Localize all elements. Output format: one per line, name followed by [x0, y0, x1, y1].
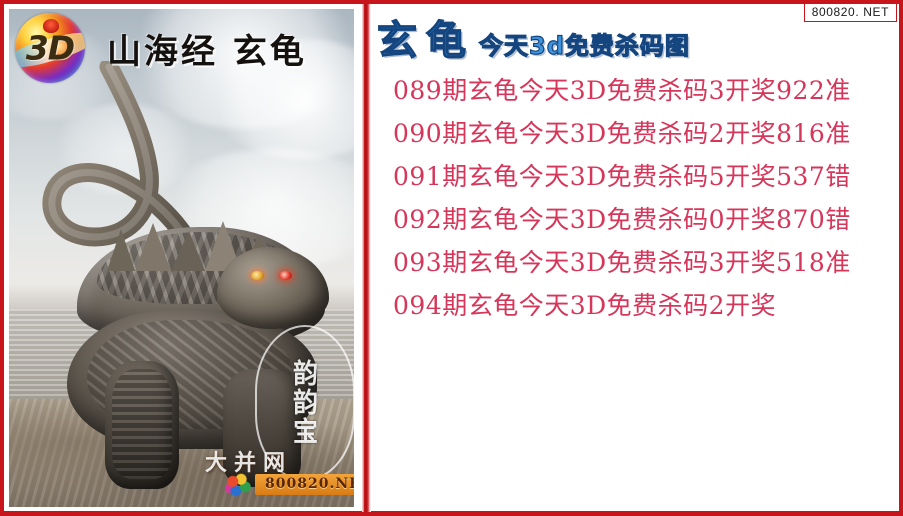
list-item: 093期玄龟今天3D免费杀码3开奖518准 [371, 241, 898, 284]
prediction-text: 089期玄龟今天3D免费杀码3开奖922准 [393, 78, 851, 103]
list-item: 092期玄龟今天3D免费杀码0开奖870错 [371, 198, 898, 241]
creature-eye-right [279, 271, 292, 280]
prediction-list: 089期玄龟今天3D免费杀码3开奖922准 090期玄龟今天3D免费杀码2开奖8… [371, 69, 898, 327]
list-item: 090期玄龟今天3D免费杀码2开奖816准 [371, 112, 898, 155]
brand-subtitle: 今天3d免费杀码图 [479, 34, 690, 58]
turtle-front-leg [105, 361, 179, 489]
right-panel-header: 玄龟 今天3d免费杀码图 [377, 9, 690, 61]
creature-eye-left [251, 271, 264, 280]
prediction-text: 092期玄龟今天3D免费杀码0开奖870错 [393, 207, 851, 232]
creature-head [217, 247, 329, 329]
list-item: 089期玄龟今天3D免费杀码3开奖922准 [371, 69, 898, 112]
right-content-panel: 玄龟 今天3d免费杀码图 089期玄龟今天3D免费杀码3开奖922准 090期玄… [371, 5, 898, 511]
site-url-badge: 800820. NET [804, 3, 897, 22]
lottery-3d-logo-icon: 3D [15, 13, 85, 83]
turtle-back-leg [223, 369, 301, 487]
prediction-text: 094期玄龟今天3D免费杀码2开奖 [393, 293, 776, 318]
prediction-text: 093期玄龟今天3D免费杀码3开奖518准 [393, 250, 851, 275]
left-panel-title: 山海经 玄龟 [107, 24, 307, 73]
brand-main-title: 玄龟 [377, 21, 475, 61]
poster-page: 3D 山海经 玄龟 韵 韵 宝 大并网 800820.NET 玄龟 今天3d免费… [0, 0, 903, 516]
list-item: 091期玄龟今天3D免费杀码5开奖537错 [371, 155, 898, 198]
prediction-text: 090期玄龟今天3D免费杀码2开奖816准 [393, 121, 851, 146]
prediction-text: 091期玄龟今天3D免费杀码5开奖537错 [393, 164, 851, 189]
list-item: 094期玄龟今天3D免费杀码2开奖 [371, 284, 898, 327]
logo-label: 3D [15, 32, 85, 65]
left-panel-header: 3D 山海经 玄龟 [9, 9, 354, 87]
left-image-panel: 3D 山海经 玄龟 韵 韵 宝 大并网 800820.NET [9, 9, 354, 507]
panel-divider [362, 4, 371, 512]
